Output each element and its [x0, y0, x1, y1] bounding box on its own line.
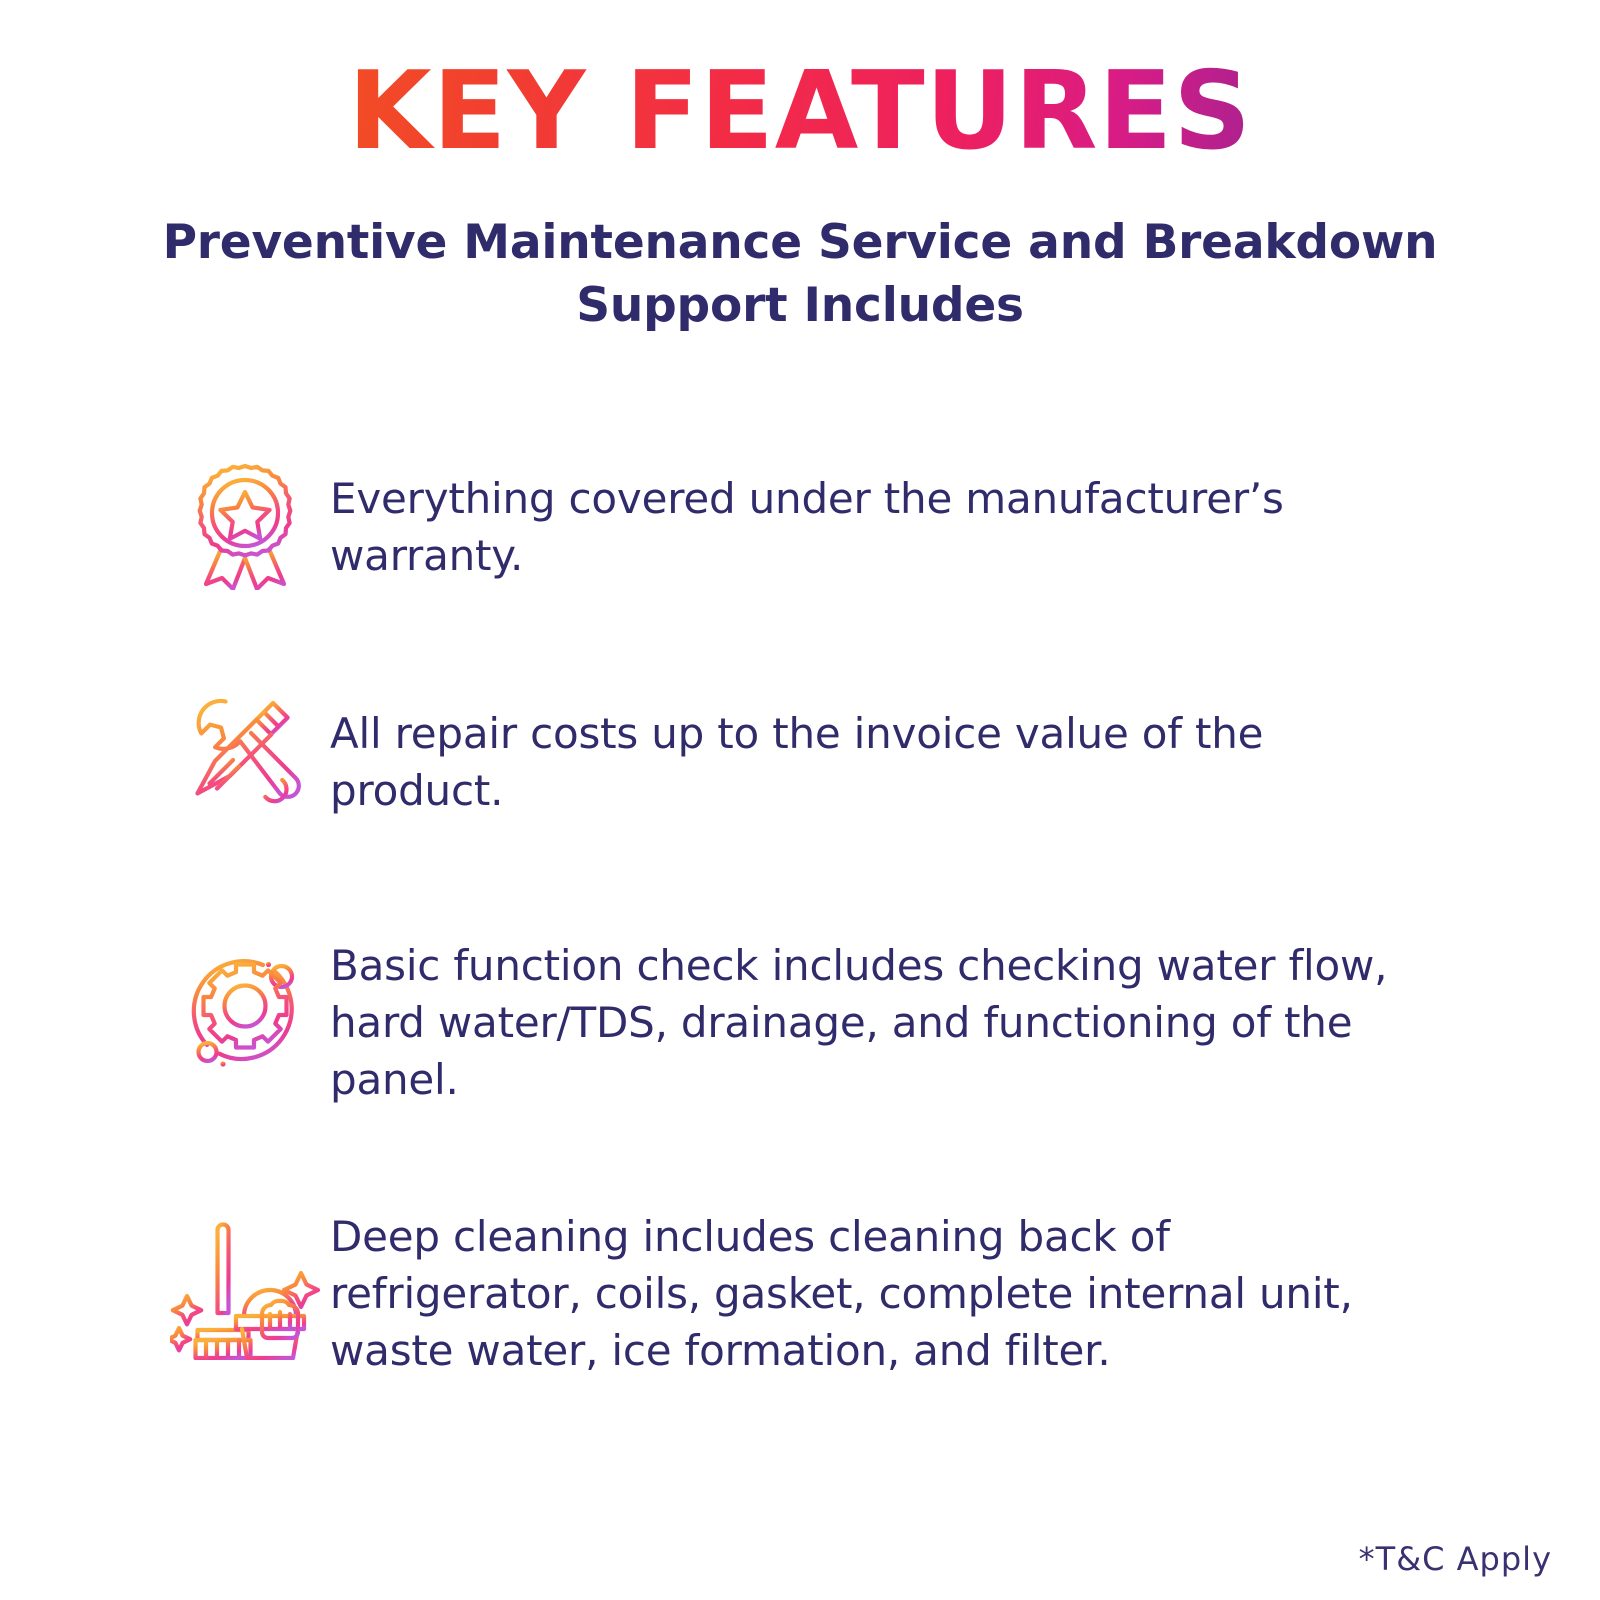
wrench-screwdriver-icon [160, 678, 330, 814]
features-list: Everything covered under the manufacture… [0, 440, 1600, 1408]
feature-text-4: Deep cleaning includes cleaning back of … [330, 1208, 1450, 1379]
feature-text-1: Everything covered under the manufacture… [330, 440, 1450, 584]
terms-conditions-note: *T&C Apply [1359, 1540, 1552, 1578]
feature-item-3: Basic function check includes checking w… [0, 930, 1600, 1208]
feature-item-1: Everything covered under the manufacture… [0, 440, 1600, 678]
award-badge-icon [160, 440, 330, 590]
feature-item-2: All repair costs up to the invoice value… [0, 678, 1600, 930]
key-features-page: KEY FEATURES Preventive Maintenance Serv… [0, 0, 1600, 1600]
feature-text-3: Basic function check includes checking w… [330, 930, 1450, 1108]
broom-bucket-cleaning-icon [160, 1208, 330, 1360]
feature-text-2: All repair costs up to the invoice value… [330, 678, 1450, 819]
gear-settings-icon [160, 930, 330, 1082]
page-title: KEY FEATURES [0, 54, 1600, 171]
feature-item-4: Deep cleaning includes cleaning back of … [0, 1208, 1600, 1408]
page-subtitle: Preventive Maintenance Service and Break… [90, 212, 1510, 337]
